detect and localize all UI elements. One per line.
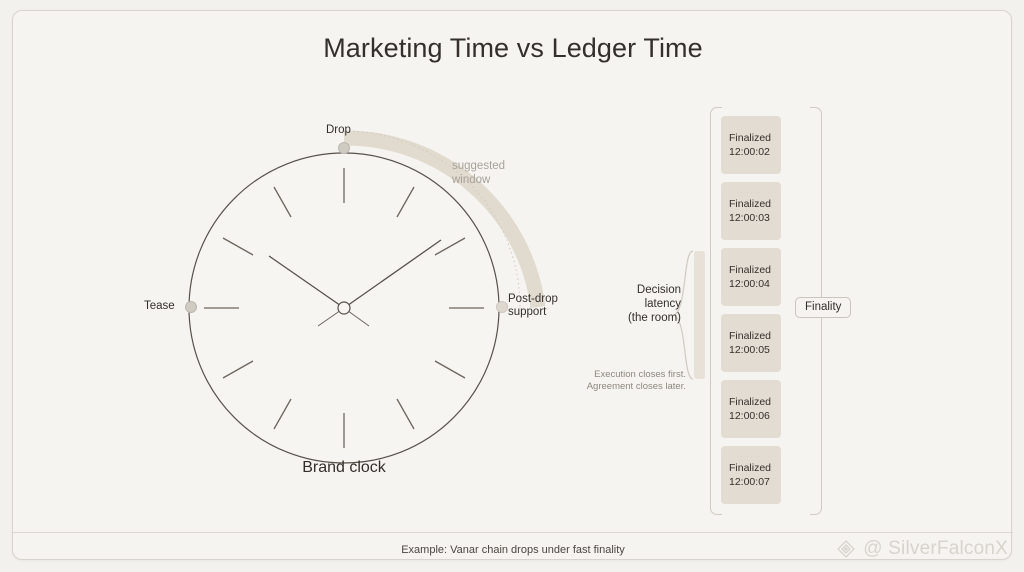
block-time: 12:00:03 — [729, 211, 781, 225]
ledger-block[interactable]: Finalized 12:00:03 — [721, 182, 781, 240]
block-status: Finalized — [729, 395, 781, 409]
ledger-block[interactable]: Finalized 12:00:05 — [721, 314, 781, 372]
ledger-block[interactable]: Finalized 12:00:04 — [721, 248, 781, 306]
finality-chip: Finality — [795, 297, 851, 318]
diamond-logo-icon — [835, 538, 857, 560]
block-time: 12:00:07 — [729, 475, 781, 489]
ledger-block-list: Finalized 12:00:02 Finalized 12:00:03 Fi… — [721, 116, 781, 512]
watermark-handle: @ SilverFalconX — [863, 538, 1008, 560]
block-time: 12:00:04 — [729, 277, 781, 291]
execution-agreement-note: Execution closes first. Agreement closes… — [554, 369, 686, 393]
ledger-block[interactable]: Finalized 12:00:02 — [721, 116, 781, 174]
marker-label-drop: Drop — [326, 124, 351, 137]
page-title: Marketing Time vs Ledger Time — [13, 33, 1013, 64]
footer-divider — [13, 532, 1013, 533]
decision-latency-label: Decision latency (the room) — [609, 283, 681, 325]
block-status: Finalized — [729, 329, 781, 343]
marker-label-post-drop: Post-drop support — [508, 293, 558, 319]
ledger-block[interactable]: Finalized 12:00:07 — [721, 446, 781, 504]
decision-latency-band — [694, 251, 705, 379]
watermark: @ SilverFalconX — [835, 538, 1008, 560]
block-time: 12:00:05 — [729, 343, 781, 357]
brand-clock-caption: Brand clock — [121, 459, 567, 477]
marker-dot-post-drop[interactable] — [497, 302, 508, 313]
ledger-block[interactable]: Finalized 12:00:06 — [721, 380, 781, 438]
suggested-window-label: suggested window — [452, 159, 505, 187]
clock-center-cap — [338, 302, 350, 314]
block-time: 12:00:06 — [729, 409, 781, 423]
marker-label-tease: Tease — [144, 300, 175, 313]
marker-dot-drop[interactable] — [339, 143, 350, 154]
block-status: Finalized — [729, 197, 781, 211]
block-status: Finalized — [729, 461, 781, 475]
block-status: Finalized — [729, 131, 781, 145]
marker-dot-tease[interactable] — [186, 302, 197, 313]
screenshot-stage: Marketing Time vs Ledger Time — [0, 0, 1024, 572]
block-status: Finalized — [729, 263, 781, 277]
block-time: 12:00:02 — [729, 145, 781, 159]
diagram-card: Marketing Time vs Ledger Time — [12, 10, 1012, 560]
